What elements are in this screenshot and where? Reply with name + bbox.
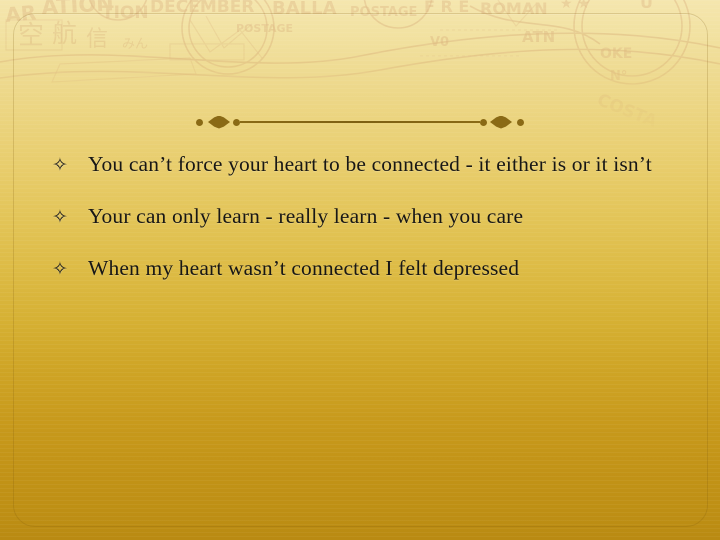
svg-text:BALLA: BALLA xyxy=(272,0,337,19)
svg-text:F R E: F R E xyxy=(424,0,469,16)
four-pointed-star-bullet-icon: ✧ xyxy=(52,254,74,284)
divider-diamond-left xyxy=(208,116,230,129)
slide-body-bullet-list: ✧ You can’t force your heart to be conne… xyxy=(52,150,676,284)
svg-text:N°: N° xyxy=(610,69,627,84)
svg-text:空: 空 xyxy=(18,21,44,51)
svg-text:信: 信 xyxy=(86,27,108,52)
svg-text:ROMAN: ROMAN xyxy=(480,0,548,18)
divider-dot-right-outer xyxy=(517,119,524,126)
divider-diamond-right xyxy=(490,116,512,129)
presentation-slide: AR ATION DECEMBER BALLA POSTAGE F R E RO… xyxy=(0,0,720,540)
svg-text:★ ★: ★ ★ xyxy=(560,0,590,12)
svg-text:U: U xyxy=(640,0,653,12)
svg-text:V0: V0 xyxy=(430,35,449,50)
ornamental-divider xyxy=(0,108,720,136)
svg-text:みん: みん xyxy=(122,37,148,52)
svg-text:POSTAGE: POSTAGE xyxy=(350,5,417,20)
divider-line xyxy=(240,121,480,123)
svg-text:POSTAGE: POSTAGE xyxy=(236,22,293,35)
svg-text:ATION: ATION xyxy=(41,0,114,19)
svg-text:AR: AR xyxy=(4,0,37,27)
divider-dot-left-outer xyxy=(196,119,203,126)
list-item-text: Your can only learn - really learn - whe… xyxy=(88,202,676,231)
svg-text:ATN: ATN xyxy=(522,28,555,46)
list-item-text: You can’t force your heart to be connect… xyxy=(88,150,676,179)
svg-text:OKE: OKE xyxy=(600,46,632,62)
list-item-text: When my heart wasn’t connected I felt de… xyxy=(88,254,676,283)
list-item: ✧ Your can only learn - really learn - w… xyxy=(52,202,676,232)
svg-text:DECEMBER: DECEMBER xyxy=(150,0,254,17)
divider-dot-left-inner xyxy=(233,119,240,126)
divider-dot-right-inner xyxy=(480,119,487,126)
four-pointed-star-bullet-icon: ✧ xyxy=(52,202,74,232)
four-pointed-star-bullet-icon: ✧ xyxy=(52,150,74,180)
svg-text:航: 航 xyxy=(52,19,77,48)
list-item: ✧ You can’t force your heart to be conne… xyxy=(52,150,676,180)
svg-text:TION: TION xyxy=(102,3,149,23)
list-item: ✧ When my heart wasn’t connected I felt … xyxy=(52,254,676,284)
